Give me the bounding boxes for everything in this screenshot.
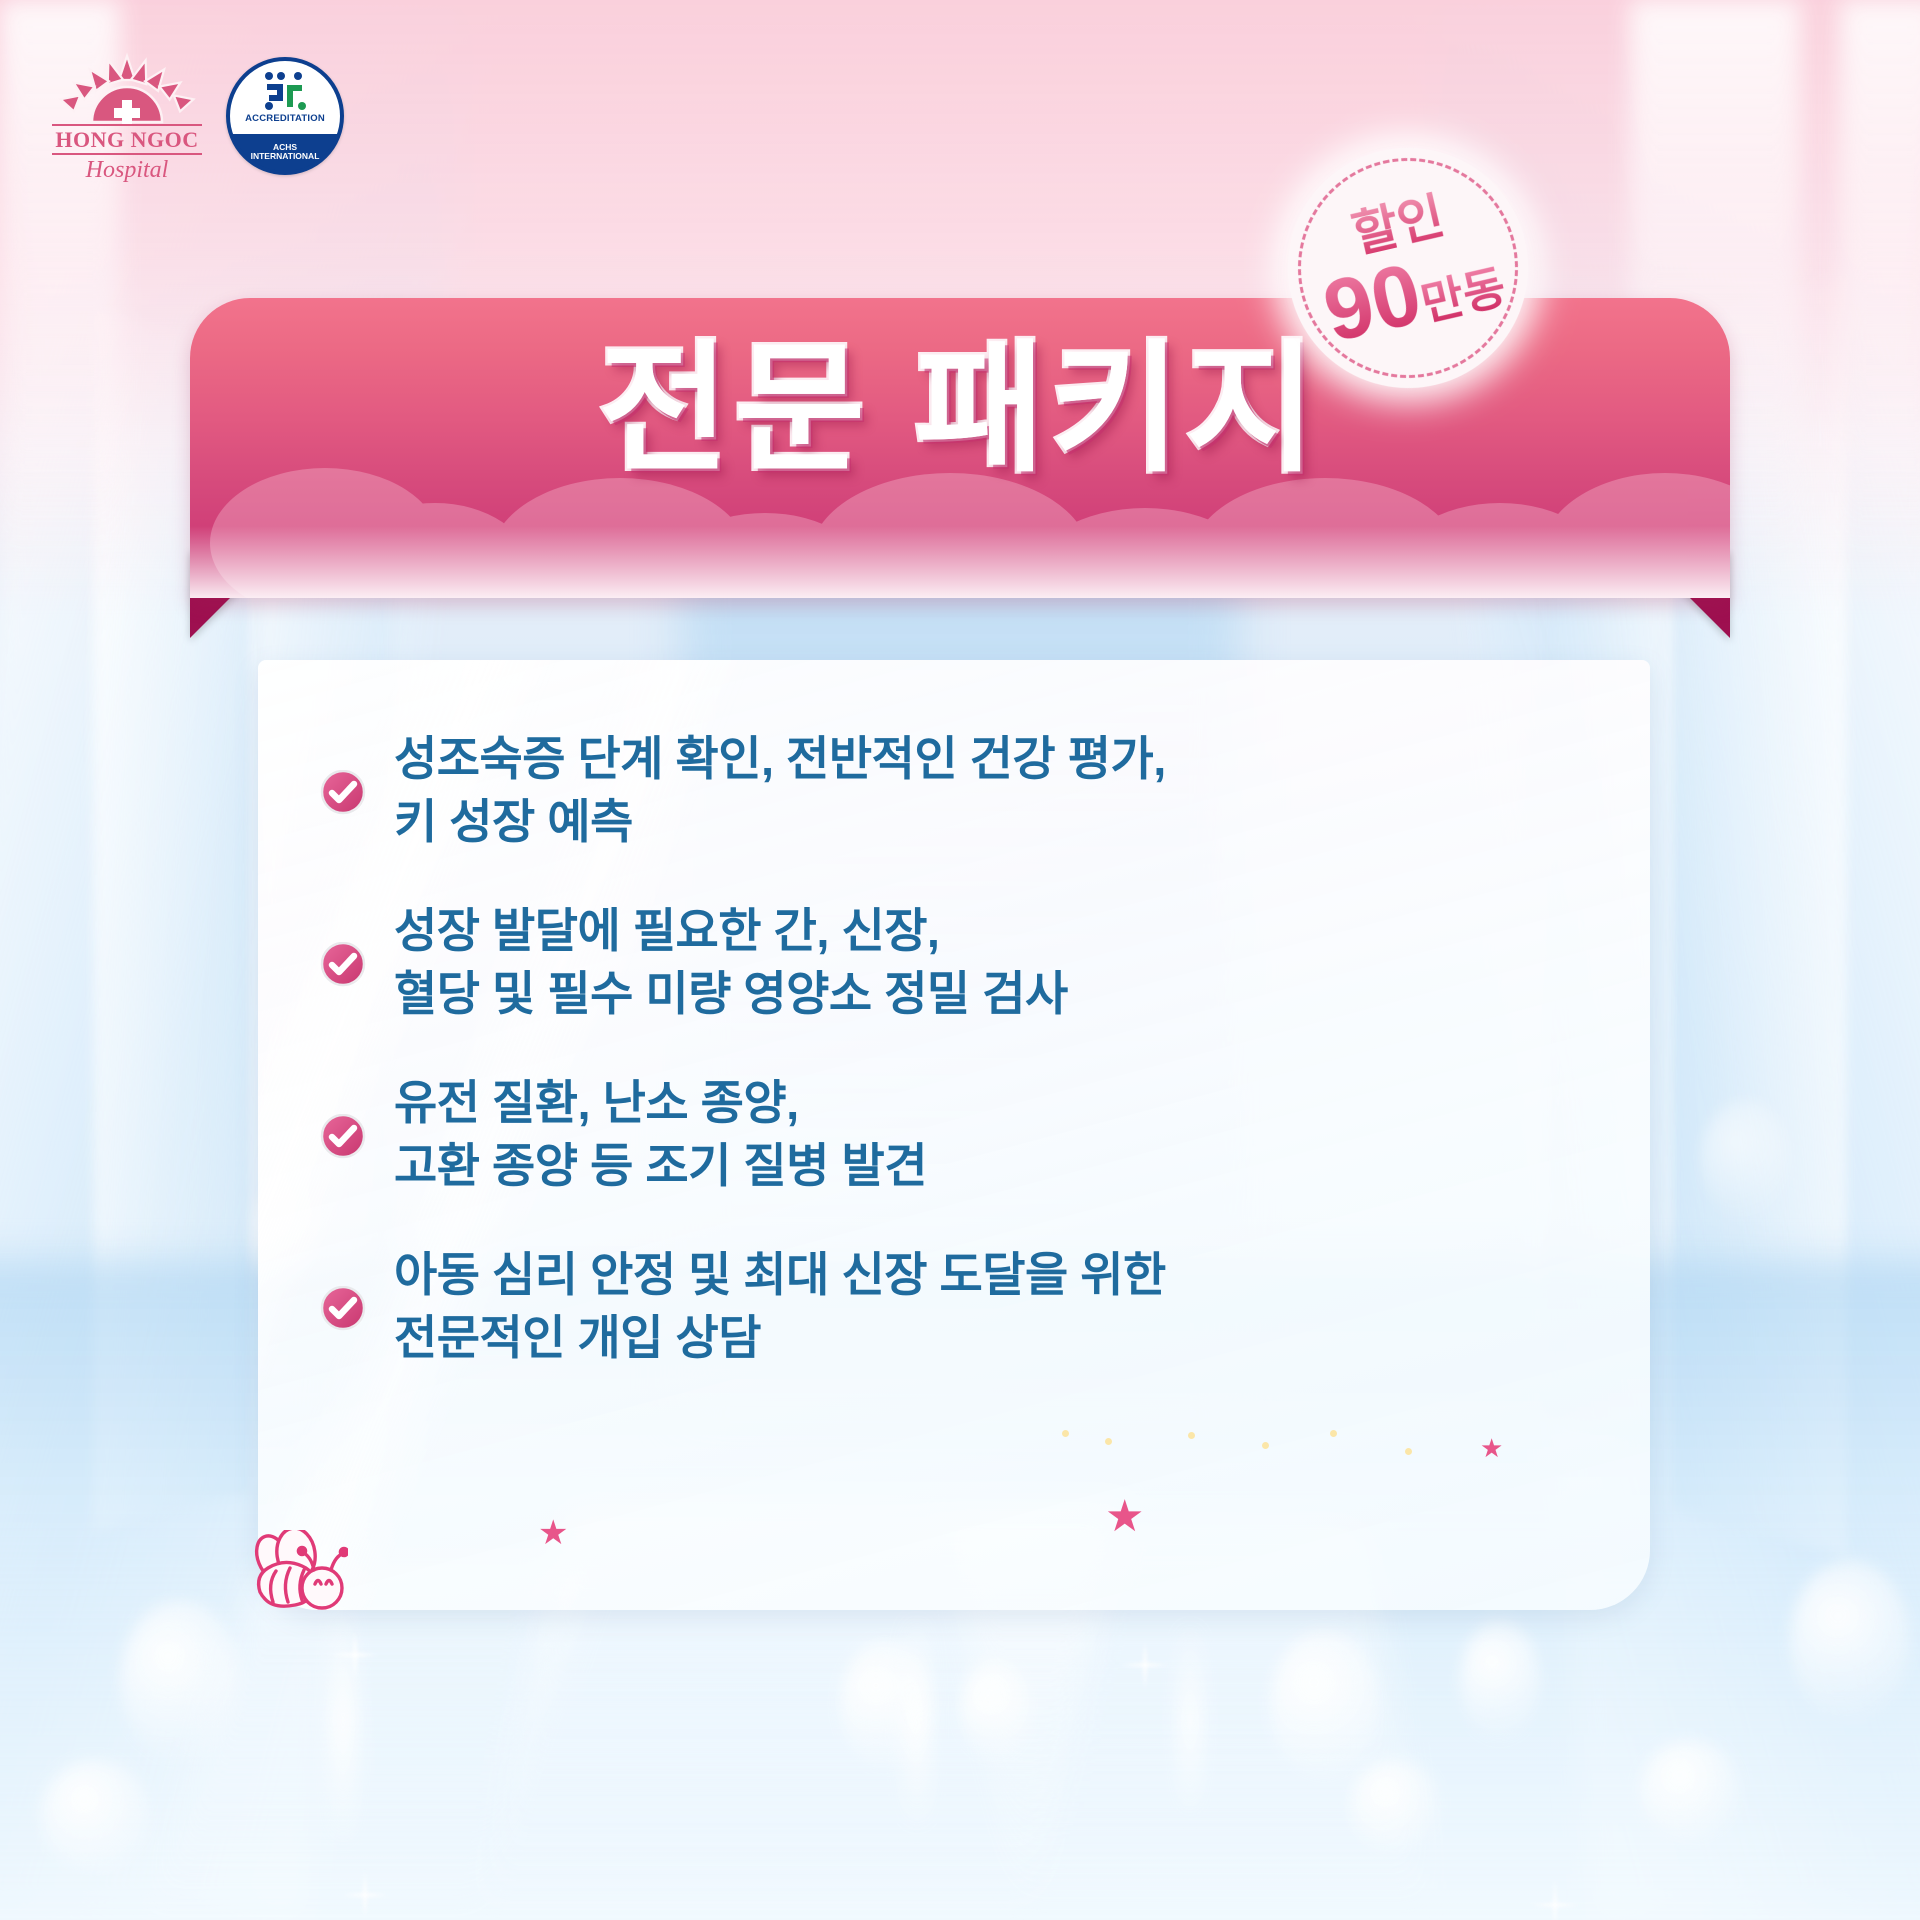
list-item-text: 아동 심리 안정 및 최대 신장 도달을 위한 전문적인 개입 상담 <box>394 1244 1166 1370</box>
hospital-name: HONG NGOC <box>52 124 202 155</box>
check-sticker-icon <box>320 1286 366 1332</box>
bokeh-light <box>1350 1760 1440 1850</box>
bokeh-light <box>1700 1100 1790 1220</box>
promo-poster: HONG NGOC Hospital ACCREDITATION ACHS IN… <box>0 0 1920 1920</box>
list-item: 성조숙증 단계 확인, 전반적인 건강 평가, 키 성장 예측 <box>320 728 1620 854</box>
list-item-line: 성조숙증 단계 확인, 전반적인 건강 평가, <box>394 728 1166 791</box>
star-icon: ★ <box>1480 1435 1503 1461</box>
bokeh-light <box>1790 1560 1910 1720</box>
ceiling-light-glow <box>1180 1620 1200 1820</box>
list-item-line: 유전 질환, 난소 종양, <box>394 1072 927 1135</box>
check-sticker-icon <box>320 770 366 816</box>
list-item-text: 성조숙증 단계 확인, 전반적인 건강 평가, 키 성장 예측 <box>394 728 1166 854</box>
list-item-text: 성장 발달에 필요한 간, 신장, 혈당 및 필수 미량 영양소 정밀 검사 <box>394 900 1068 1026</box>
bokeh-light <box>1270 1630 1380 1780</box>
star-icon: ★ <box>1105 1495 1144 1539</box>
bokeh-light <box>1640 1740 1740 1840</box>
bokeh-light <box>1460 1620 1540 1740</box>
lotus-cross-icon <box>52 46 202 136</box>
bokeh-light <box>960 1660 1030 1760</box>
list-item-line: 성장 발달에 필요한 간, 신장, <box>394 900 1068 963</box>
achs-mark-icon <box>263 71 307 111</box>
list-item-text: 유전 질환, 난소 종양, 고환 종양 등 조기 질병 발견 <box>394 1072 927 1198</box>
banner-title: 전문 패키지 <box>190 332 1730 488</box>
yellow-dot <box>1405 1448 1412 1455</box>
discount-unit: 만동 <box>1417 263 1510 327</box>
sparkle-icon <box>1520 1870 1590 1920</box>
yellow-dot <box>1262 1442 1269 1449</box>
list-item-line: 키 성장 예측 <box>394 791 1166 854</box>
discount-amount: 90 <box>1316 250 1429 355</box>
logo-group: HONG NGOC Hospital ACCREDITATION ACHS IN… <box>52 46 344 186</box>
yellow-dot <box>1330 1430 1337 1437</box>
hong-ngoc-logo: HONG NGOC Hospital <box>52 46 202 186</box>
accreditation-org-line2: INTERNATIONAL <box>251 152 320 162</box>
sparkle-icon <box>1110 1630 1180 1700</box>
list-item-line: 전문적인 개입 상담 <box>394 1307 1166 1370</box>
list-item-line: 혈당 및 필수 미량 영양소 정밀 검사 <box>394 963 1068 1026</box>
bee-icon <box>238 1530 348 1626</box>
hospital-subtitle: Hospital <box>52 158 202 182</box>
ribbon-bottom-fade <box>190 526 1730 598</box>
bokeh-light <box>40 1760 150 1870</box>
list-item-line: 아동 심리 안정 및 최대 신장 도달을 위한 <box>394 1244 1166 1307</box>
achs-accreditation-badge: ACCREDITATION ACHS INTERNATIONAL <box>226 57 344 175</box>
star-icon: ★ <box>538 1516 568 1550</box>
yellow-dot <box>1188 1432 1195 1439</box>
list-item: 유전 질환, 난소 종양, 고환 종양 등 조기 질병 발견 <box>320 1072 1620 1198</box>
sparkle-icon <box>320 1620 390 1690</box>
list-item-line: 고환 종양 등 조기 질병 발견 <box>394 1135 927 1198</box>
accreditation-word: ACCREDITATION <box>245 113 325 124</box>
check-sticker-icon <box>320 942 366 988</box>
discount-label: 할인 <box>1348 190 1449 259</box>
check-sticker-icon <box>320 1114 366 1160</box>
yellow-dot <box>1062 1430 1069 1437</box>
bokeh-light <box>840 1640 930 1770</box>
package-content-card: 성조숙증 단계 확인, 전반적인 건강 평가, 키 성장 예측 성장 발달에 필… <box>258 660 1650 1610</box>
list-item: 성장 발달에 필요한 간, 신장, 혈당 및 필수 미량 영양소 정밀 검사 <box>320 900 1620 1026</box>
bokeh-light <box>120 1600 240 1760</box>
sparkle-icon <box>330 1860 400 1920</box>
feature-list: 성조숙증 단계 확인, 전반적인 건강 평가, 키 성장 예측 성장 발달에 필… <box>320 728 1620 1370</box>
list-item: 아동 심리 안정 및 최대 신장 도달을 위한 전문적인 개입 상담 <box>320 1244 1620 1370</box>
yellow-dot <box>1105 1438 1112 1445</box>
